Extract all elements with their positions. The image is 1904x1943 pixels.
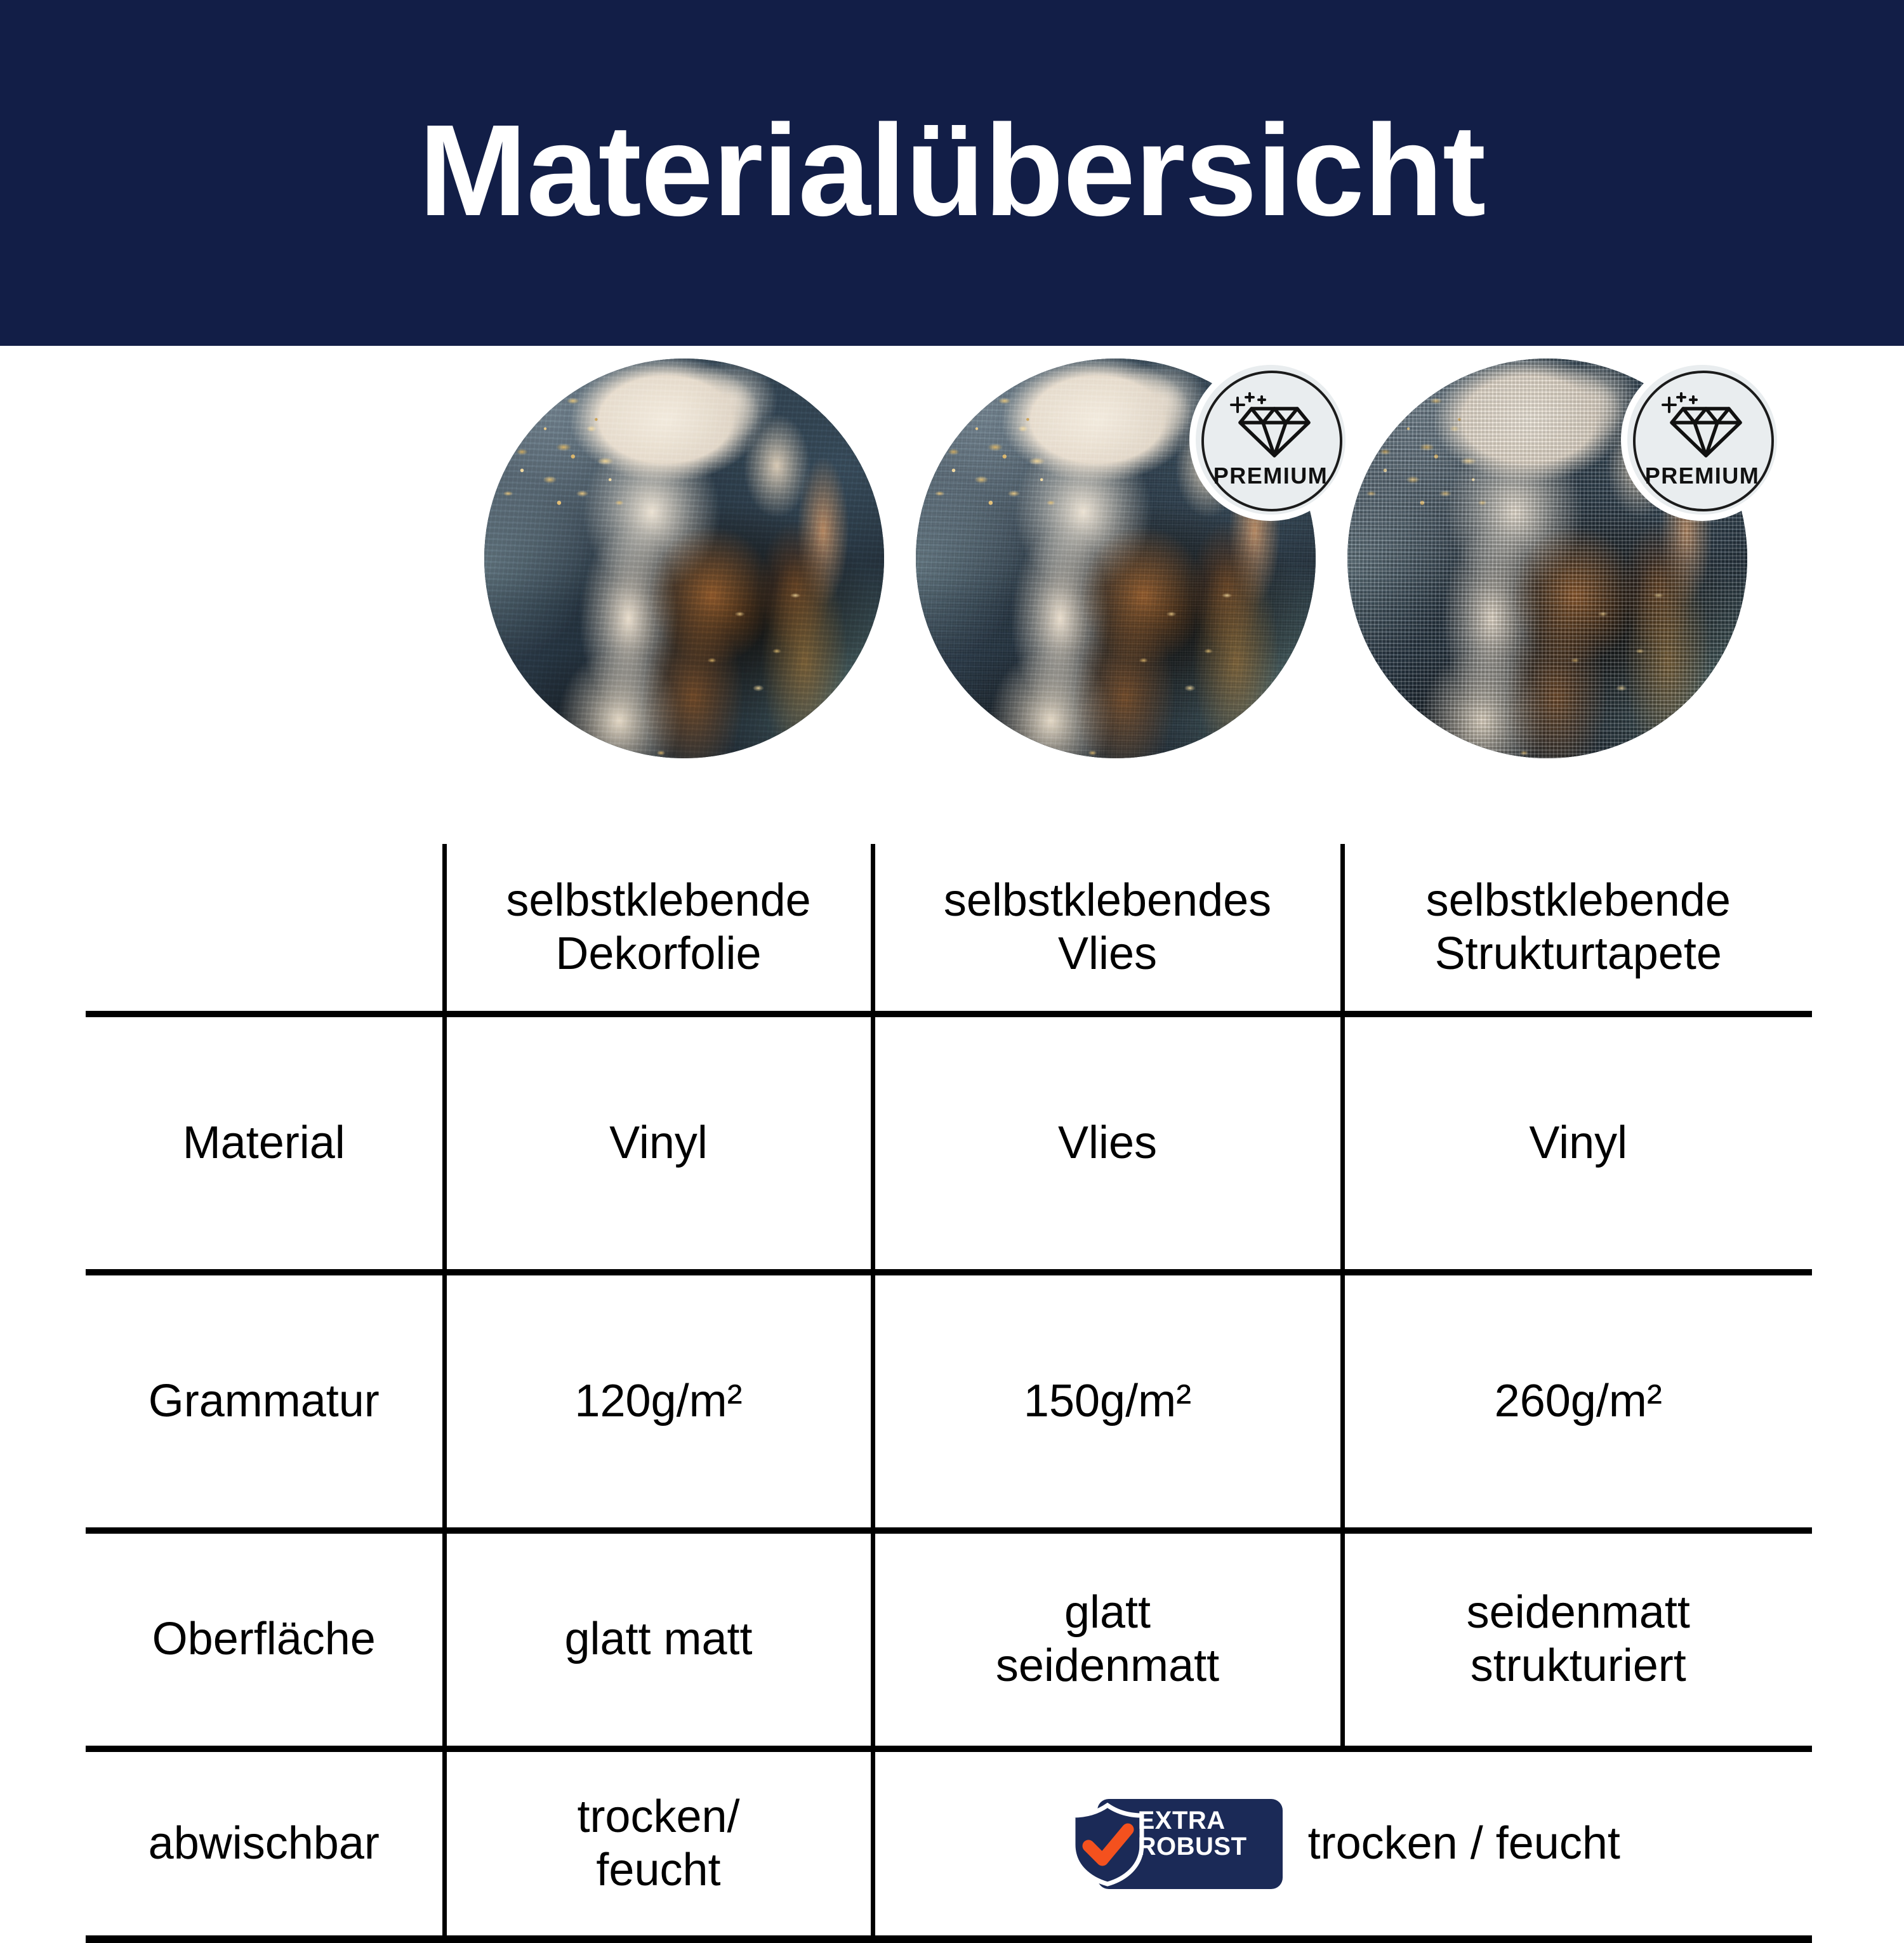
cell-oberflaeche-strukturtapete: seidenmatt strukturiert	[1342, 1531, 1812, 1749]
column-header-dekorfolie: selbstklebende Dekorfolie	[444, 844, 873, 1014]
page-title: Materialübersicht	[419, 105, 1485, 235]
column-header-strukturtapete: selbstklebende Strukturtapete	[1342, 844, 1812, 1014]
diamond-icon	[1660, 392, 1744, 464]
row-label-grammatur: Grammatur	[86, 1272, 444, 1531]
cell-material-strukturtapete: Vinyl	[1342, 1014, 1812, 1272]
column-header-line2: Dekorfolie	[555, 928, 761, 979]
shield-check-icon	[1067, 1803, 1148, 1899]
cell-abwischbar-text: trocken / feucht	[1308, 1817, 1620, 1871]
extra-robust-badge: EXTRA ROBUST	[1067, 1799, 1283, 1889]
material-spec-table: selbstklebende Dekorfolie selbstklebende…	[86, 844, 1812, 1943]
row-label-material: Material	[86, 1014, 444, 1272]
column-header-line1: selbstklebendes	[944, 875, 1271, 926]
column-header-vlies: selbstklebendes Vlies	[873, 844, 1342, 1014]
premium-badge: PREMIUM	[1196, 365, 1345, 515]
premium-badge-label: PREMIUM	[1645, 464, 1760, 487]
page-header: Materialübersicht	[0, 0, 1904, 346]
table-row: Material Vinyl Vlies Vinyl	[86, 1014, 1812, 1272]
column-header-line2: Strukturtapete	[1435, 928, 1722, 979]
cell-grammatur-strukturtapete: 260g/m²	[1342, 1272, 1812, 1531]
cell-line1: seidenmatt	[1467, 1587, 1690, 1638]
table-bottom-rule	[86, 1939, 1812, 1943]
extra-robust-label: EXTRA ROBUST	[1138, 1808, 1247, 1861]
premium-badge-label: PREMIUM	[1213, 464, 1328, 487]
cell-grammatur-dekorfolie: 120g/m²	[444, 1272, 873, 1531]
table-bottom-rule-cell	[86, 1939, 1812, 1943]
robust-line2: ROBUST	[1138, 1834, 1247, 1861]
cell-material-vlies: Vlies	[873, 1014, 1342, 1272]
table-corner-cell	[86, 844, 444, 1014]
cell-line2: feucht	[596, 1845, 720, 1895]
swatch-vlies[interactable]: PREMIUM	[916, 359, 1316, 758]
cell-abwischbar-dekorfolie: trocken/ feucht	[444, 1749, 873, 1939]
robust-line1: EXTRA	[1138, 1808, 1247, 1834]
cell-oberflaeche-dekorfolie: glatt matt	[444, 1531, 873, 1749]
row-label-abwischbar: abwischbar	[86, 1749, 444, 1939]
cell-oberflaeche-vlies: glatt seidenmatt	[873, 1531, 1342, 1749]
cell-line1: trocken/	[577, 1791, 739, 1842]
cell-material-dekorfolie: Vinyl	[444, 1014, 873, 1272]
column-header-line1: selbstklebende	[1426, 875, 1731, 926]
diamond-icon	[1229, 392, 1312, 464]
material-swatch-row: PREMIUM	[0, 346, 1904, 822]
cell-line2: seidenmatt	[996, 1640, 1219, 1691]
cell-abwischbar-vlies-strukturtapete: EXTRA ROBUST trocken / feucht	[873, 1749, 1812, 1939]
cell-line2: strukturiert	[1471, 1640, 1686, 1691]
table-header-row: selbstklebende Dekorfolie selbstklebende…	[86, 844, 1812, 1014]
column-header-line1: selbstklebende	[506, 875, 810, 926]
swatch-strukturtapete[interactable]: PREMIUM	[1347, 359, 1747, 758]
row-label-oberflaeche: Oberfläche	[86, 1531, 444, 1749]
swatch-image-1	[484, 359, 884, 758]
column-header-line2: Vlies	[1058, 928, 1157, 979]
swatch-dekorfolie[interactable]	[484, 359, 884, 758]
table-row: abwischbar trocken/ feucht	[86, 1749, 1812, 1939]
table-row: Oberfläche glatt matt glatt seidenmatt s…	[86, 1531, 1812, 1749]
cell-line1: glatt	[1064, 1587, 1151, 1638]
premium-badge: PREMIUM	[1627, 365, 1777, 515]
cell-grammatur-vlies: 150g/m²	[873, 1272, 1342, 1531]
table-row: Grammatur 120g/m² 150g/m² 260g/m²	[86, 1272, 1812, 1531]
